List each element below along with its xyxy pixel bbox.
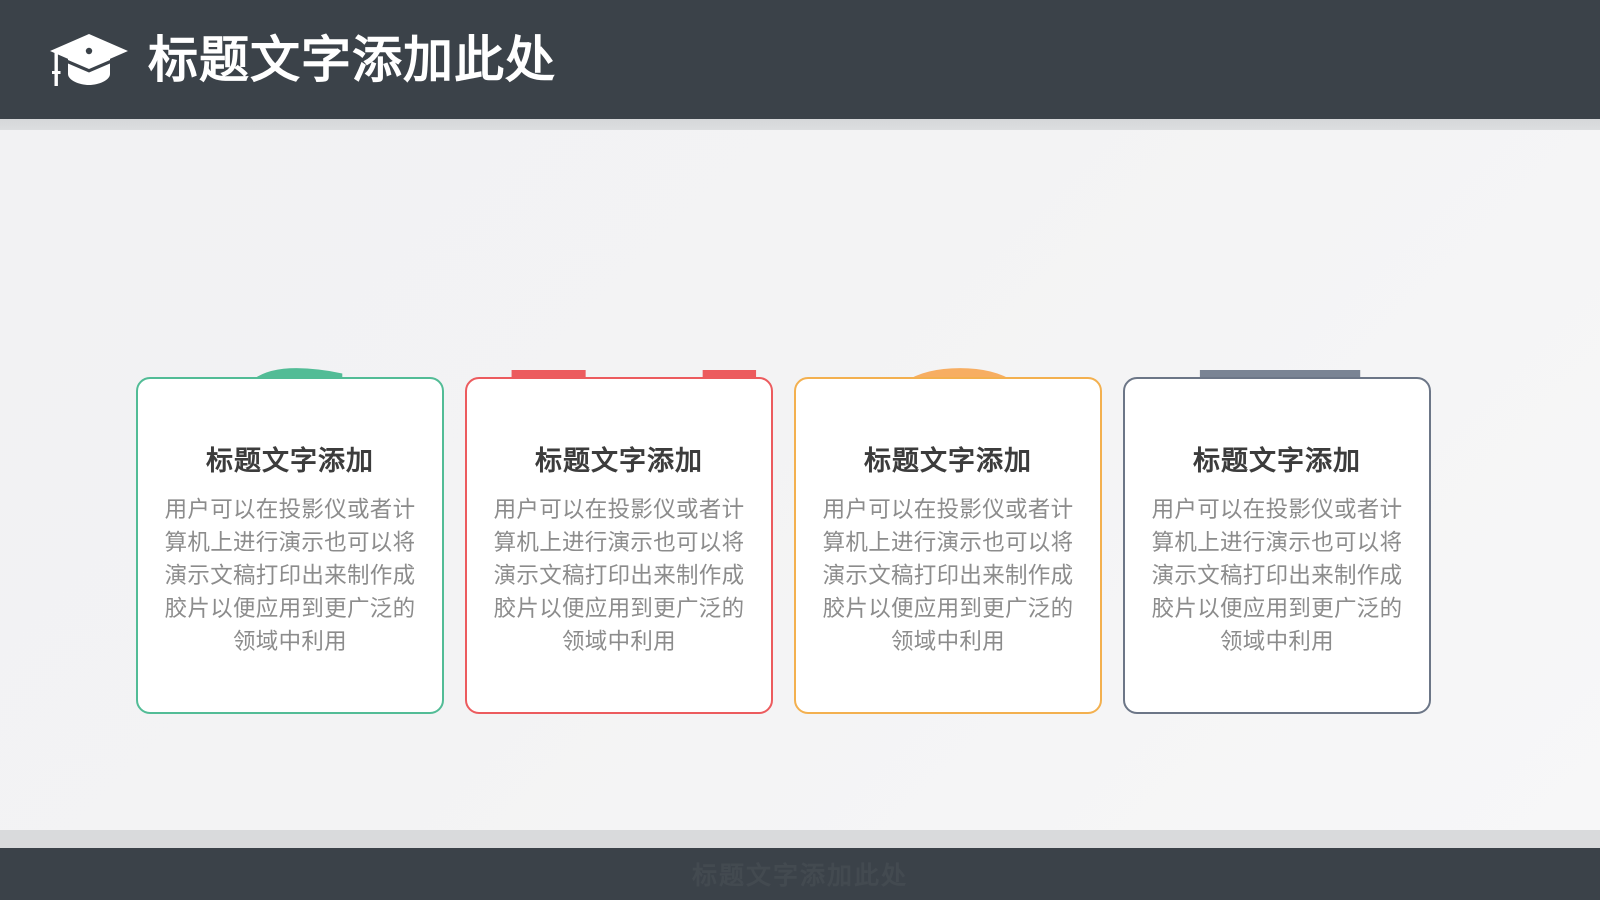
swot-card-threats[interactable]: 标题文字添加 用户可以在投影仪或者计算机上进行演示也可以将演示文稿打印出来制作成…: [1123, 377, 1431, 714]
card-title: 标题文字添加: [158, 445, 422, 477]
card-body: 用户可以在投影仪或者计算机上进行演示也可以将演示文稿打印出来制作成胶片以便应用到…: [816, 493, 1080, 658]
card-title: 标题文字添加: [1145, 445, 1409, 477]
page-title: 标题文字添加此处: [148, 35, 556, 85]
slide-canvas: S W O T 标题文字添加 用户可以在投影仪或者计算机上进行演示也可以将演示文…: [0, 130, 1600, 830]
header-divider: [0, 119, 1600, 130]
swot-card-weaknesses[interactable]: 标题文字添加 用户可以在投影仪或者计算机上进行演示也可以将演示文稿打印出来制作成…: [465, 377, 773, 714]
card-body: 用户可以在投影仪或者计算机上进行演示也可以将演示文稿打印出来制作成胶片以便应用到…: [1145, 493, 1409, 658]
card-title: 标题文字添加: [816, 445, 1080, 477]
graduation-cap-icon: [46, 30, 132, 92]
footer-bar: 标题文字添加此处: [0, 848, 1600, 900]
card-body: 用户可以在投影仪或者计算机上进行演示也可以将演示文稿打印出来制作成胶片以便应用到…: [158, 493, 422, 658]
slide-root: 标题文字添加此处 S W O T 标题文字添加 用户可以在投影仪或者计算机上进行…: [0, 0, 1600, 900]
swot-card-strengths[interactable]: 标题文字添加 用户可以在投影仪或者计算机上进行演示也可以将演示文稿打印出来制作成…: [136, 377, 444, 714]
card-title: 标题文字添加: [487, 445, 751, 477]
swot-card-opportunities[interactable]: 标题文字添加 用户可以在投影仪或者计算机上进行演示也可以将演示文稿打印出来制作成…: [794, 377, 1102, 714]
card-body: 用户可以在投影仪或者计算机上进行演示也可以将演示文稿打印出来制作成胶片以便应用到…: [487, 493, 751, 658]
footer-divider: [0, 830, 1600, 848]
footer-watermark: 标题文字添加此处: [692, 856, 908, 892]
header-bar: 标题文字添加此处: [0, 0, 1600, 119]
